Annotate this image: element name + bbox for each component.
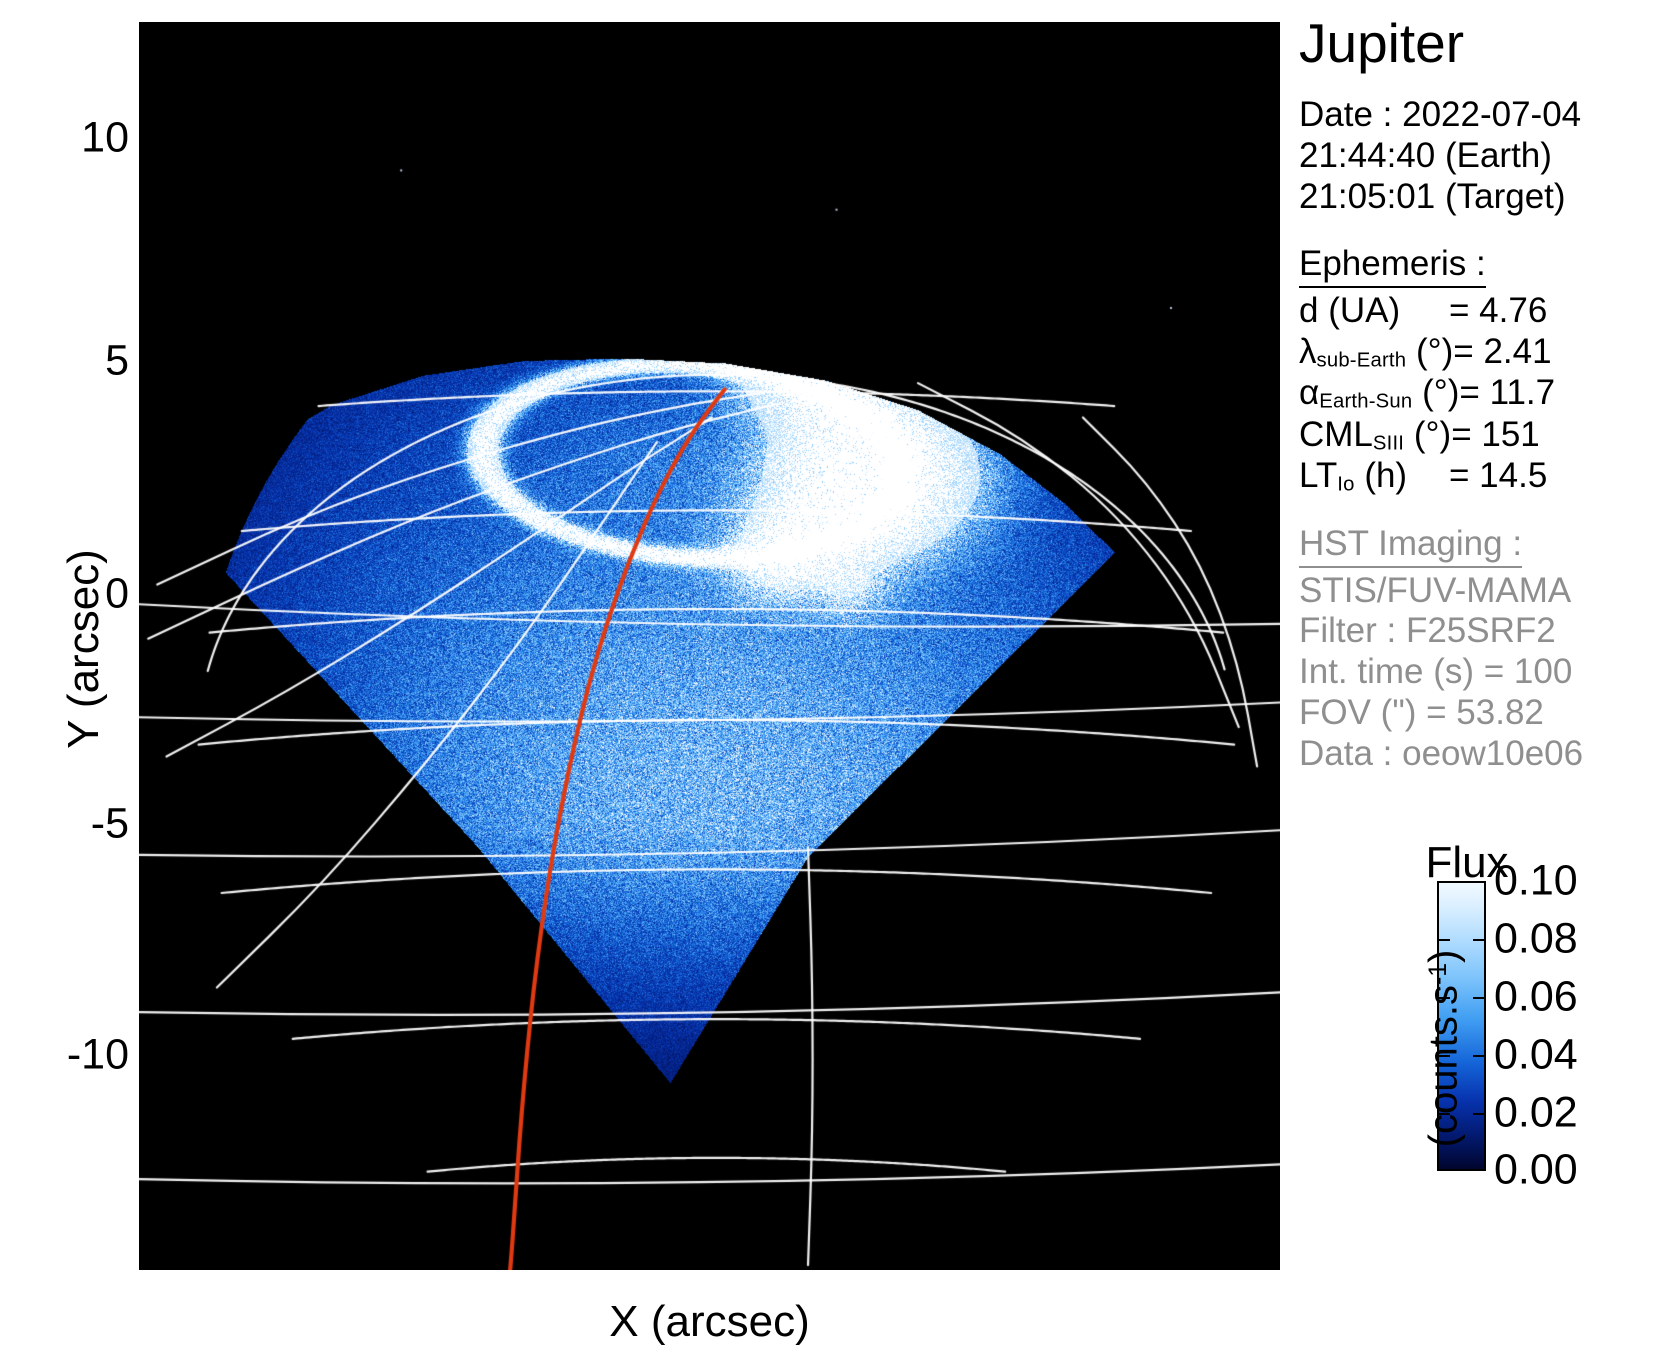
ephemeris-sub-alpha: Earth-Sun <box>1319 391 1412 413</box>
hst-filter: Filter : F25SRF2 <box>1299 611 1677 652</box>
ephemeris-sub-lt: Io <box>1337 474 1354 496</box>
x-tick-10: 10 <box>1145 1202 1193 1245</box>
page-title: Jupiter <box>1299 14 1677 73</box>
aurora-image-canvas <box>139 22 1280 1270</box>
ephemeris-key-alpha: α <box>1299 373 1319 412</box>
colorbar-tick-0.00: 0.00 <box>1494 1149 1578 1192</box>
ephemeris-key-lt: LT <box>1299 456 1337 495</box>
observation-time-target: 21:05:01 (Target) <box>1299 177 1677 218</box>
ephemeris-row-cml: CMLSIII (°) = 151 <box>1299 415 1677 456</box>
hst-integration-time: Int. time (s) = 100 <box>1299 652 1677 693</box>
x-tick-neg10: -10 <box>222 1202 284 1245</box>
colorbar-axis-label: (counts.s-1) <box>1422 899 1467 1199</box>
ephemeris-value-lt: = 14.5 <box>1449 456 1547 497</box>
ephemeris-unit-lambda: (°) <box>1416 332 1453 371</box>
hst-imaging-heading: HST Imaging : <box>1299 524 1522 568</box>
colorbar-unit-exponent: -1 <box>1425 963 1452 985</box>
y-tick-neg5: -5 <box>9 803 129 846</box>
ephemeris-row-distance: d (UA) = 4.76 <box>1299 291 1677 332</box>
ephemeris-unit-cml: (°) <box>1414 415 1451 454</box>
hst-dataset-id: Data : oeow10e06 <box>1299 734 1677 775</box>
ephemeris-value-cml: = 151 <box>1451 415 1540 456</box>
ephemeris-key-lambda: λ <box>1299 332 1317 371</box>
info-panel: Jupiter Date : 2022-07-04 21:44:40 (Eart… <box>1299 14 1677 775</box>
ephemeris-sub-cml: SIII <box>1373 432 1404 454</box>
ephemeris-value-alpha: = 11.7 <box>1459 373 1555 414</box>
colorbar-tick-0.06: 0.06 <box>1494 976 1578 1019</box>
x-tick-5: 5 <box>928 1202 952 1245</box>
aurora-image-plot <box>139 22 1280 1270</box>
hst-field-of-view: FOV (") = 53.82 <box>1299 693 1677 734</box>
ephemeris-key-distance: d (UA) <box>1299 291 1400 330</box>
ephemeris-row-io-local-time: LTIo (h) = 14.5 <box>1299 456 1677 497</box>
hst-instrument: STIS/FUV-MAMA <box>1299 571 1677 612</box>
observation-date: Date : 2022-07-04 <box>1299 95 1677 136</box>
colorbar-unit-prefix: (counts.s <box>1422 985 1466 1147</box>
ephemeris-key-cml: CML <box>1299 415 1373 454</box>
colorbar-tick-0.04: 0.04 <box>1494 1034 1578 1077</box>
x-axis-label: X (arcsec) <box>139 1297 1280 1347</box>
colorbar-unit-suffix: ) <box>1422 950 1466 963</box>
ephemeris-heading: Ephemeris : <box>1299 244 1486 288</box>
ephemeris-row-sub-earth-latitude: λsub-Earth (°) = 2.41 <box>1299 332 1677 373</box>
y-axis-label: Y (arcsec) <box>59 499 109 799</box>
x-tick-0: 0 <box>699 1202 723 1245</box>
colorbar-tick-0.08: 0.08 <box>1494 918 1578 961</box>
ephemeris-row-phase-angle: αEarth-Sun (°) = 11.7 <box>1299 373 1677 414</box>
ephemeris-value-distance: = 4.76 <box>1449 291 1547 332</box>
y-tick-5: 5 <box>9 340 129 383</box>
x-tick-neg5: -5 <box>463 1202 501 1245</box>
ephemeris-sub-lambda: sub-Earth <box>1317 350 1407 372</box>
ephemeris-unit-alpha: (°) <box>1422 373 1459 412</box>
ephemeris-unit-lt: (h) <box>1364 456 1407 495</box>
y-tick-neg10: -10 <box>9 1034 129 1077</box>
colorbar-tick-0.10: 0.10 <box>1494 860 1578 903</box>
colorbar-tick-0.02: 0.02 <box>1494 1092 1578 1135</box>
observation-time-earth: 21:44:40 (Earth) <box>1299 136 1677 177</box>
y-tick-10: 10 <box>9 117 129 160</box>
ephemeris-value-lambda: = 2.41 <box>1453 332 1551 373</box>
